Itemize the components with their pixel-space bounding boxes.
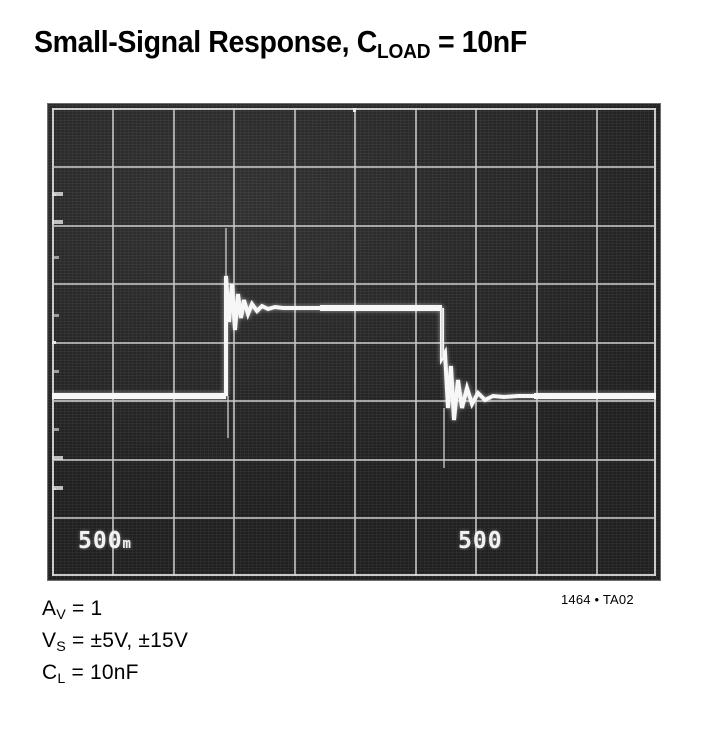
title-suffix: = 10nF [430,24,526,59]
vertical-scale-value: 500 [78,528,123,554]
test-conditions: AV = 1 VS = ±5V, ±15V CL = 10nF [42,596,188,692]
figure-caption: 1464 • TA02 [561,592,634,607]
horizontal-scale-readout: 500 [458,528,503,554]
graticule [52,108,656,576]
condition-gain: AV = 1 [42,596,188,628]
vertical-scale-unit: m [123,536,131,552]
title-subscript: LOAD [377,40,430,63]
condition-load-cap-value: = 10nF [66,661,139,684]
page-title: Small-Signal Response, CLOAD = 10nF [34,24,527,64]
title-prefix: Small-Signal Response, C [34,24,377,59]
condition-supply-value: = ±5V, ±15V [66,629,188,652]
condition-gain-subscript: V [56,607,66,623]
waveform-trace [52,108,656,576]
oscilloscope-screenshot: 500m 500 [48,104,660,580]
condition-supply-subscript: S [56,639,66,655]
condition-load-cap: CL = 10nF [42,660,188,692]
condition-supply-symbol: V [42,629,56,652]
condition-load-cap-symbol: C [42,661,57,684]
vertical-scale-readout: 500m [78,528,131,554]
condition-load-cap-subscript: L [57,671,65,687]
condition-gain-value: = 1 [66,597,102,620]
condition-supply: VS = ±5V, ±15V [42,628,188,660]
condition-gain-symbol: A [42,597,56,620]
